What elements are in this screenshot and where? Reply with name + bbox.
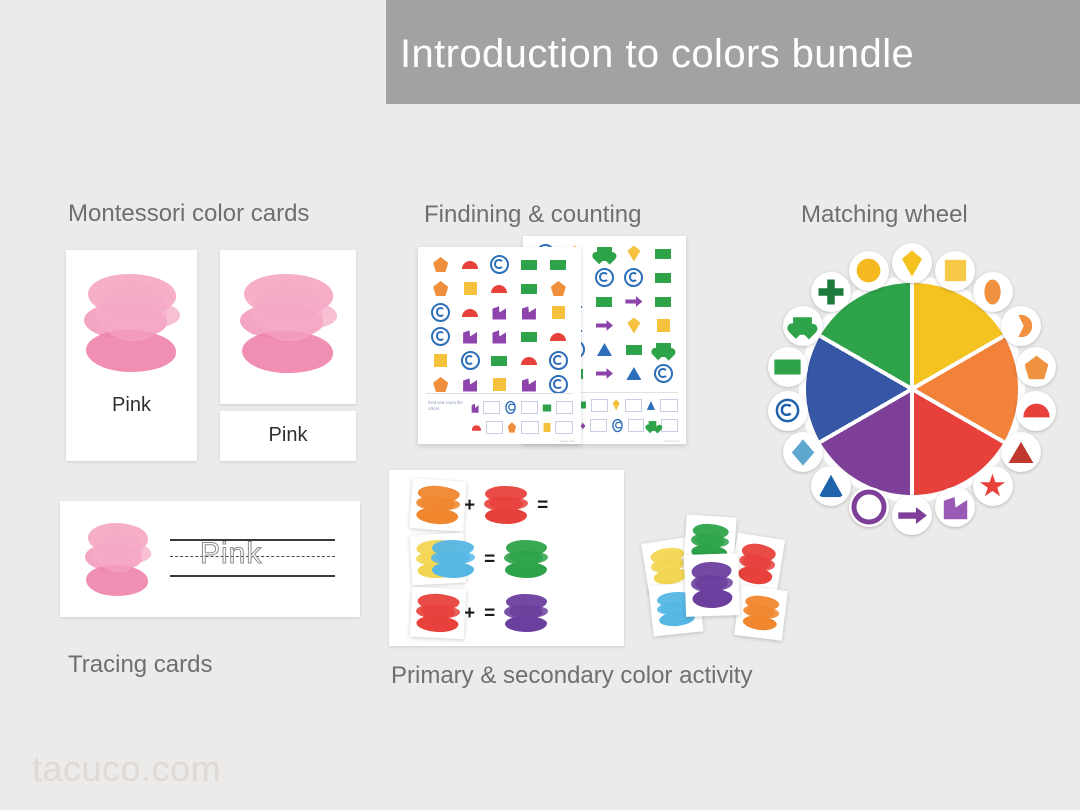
triangle-blue-icon [647, 400, 655, 409]
grid-cell [426, 375, 455, 394]
halfcircle-red-icon [462, 261, 478, 269]
heart-green-icon [649, 421, 657, 431]
rect-green-icon [655, 297, 671, 307]
square-icon [944, 260, 965, 281]
rect-green-icon [521, 332, 537, 342]
matching-wheel [766, 243, 1058, 535]
square-yellow-icon [493, 378, 506, 391]
triangle-blue-icon [626, 367, 641, 380]
spiral-blue-icon [549, 375, 568, 394]
halfcircle-red-icon [472, 425, 481, 431]
pac-purple-icon [522, 306, 536, 320]
grid-cell [455, 255, 484, 274]
count-answer-box[interactable] [483, 401, 500, 414]
spiral-blue-icon [431, 327, 450, 346]
color-mix-equation: += [411, 540, 548, 578]
rect-green-icon [543, 404, 551, 411]
rect-green-icon [521, 260, 537, 270]
grid-cell [649, 316, 678, 335]
arrow-purple-icon [596, 368, 613, 380]
plus-sign: + [464, 496, 475, 515]
grid-cell [485, 279, 514, 298]
count-answer-box[interactable] [625, 399, 643, 412]
halfcircle-red-icon [521, 357, 537, 365]
ellipse-icon [985, 280, 1001, 305]
pentagon-orange-icon [551, 281, 566, 296]
arrow-purple-icon [625, 296, 642, 308]
grid-cell [485, 375, 514, 394]
grid-cell [619, 292, 648, 311]
wheel-token-pick[interactable] [811, 466, 851, 506]
grid-cell [455, 279, 484, 298]
grid-cell [649, 268, 678, 287]
square-yellow-icon [657, 319, 670, 332]
arrow-purple-icon [596, 320, 613, 332]
color-blob-red [415, 593, 461, 633]
grid-cell [590, 364, 619, 383]
count-answer-box[interactable] [660, 399, 678, 412]
site-watermark: tacuco.com [32, 748, 221, 790]
legend-instruction: Find and count the colors [428, 400, 468, 413]
count-answer-box[interactable] [590, 419, 607, 432]
grid-cell [544, 375, 573, 394]
circle-icon [857, 259, 881, 283]
pac-purple-icon [492, 330, 506, 344]
pentagon-orange-icon [508, 422, 516, 433]
wheel-token-square[interactable] [935, 251, 975, 291]
grid-cell [455, 327, 484, 346]
counting-worksheet-a: Find and count the colors tacuco.com [418, 247, 581, 444]
grid-cell [544, 255, 573, 274]
halfcircle-red-icon [491, 285, 507, 293]
pentagon-orange-icon [433, 257, 448, 272]
legend-row [575, 416, 678, 435]
color-blob-red [484, 486, 528, 524]
kite-yellow-icon [613, 399, 620, 410]
grid-cell [619, 268, 648, 287]
legend-row [470, 420, 573, 435]
slide-canvas: Introduction to colors bundle Montessori… [0, 0, 1080, 810]
wheel-token-ring[interactable] [849, 487, 889, 527]
triangle-blue-icon [597, 343, 612, 356]
grid-cell [544, 351, 573, 370]
grid-cell [426, 303, 455, 322]
wheel-token-arrow[interactable] [892, 495, 932, 535]
spiral-blue-icon [654, 364, 673, 383]
kite-yellow-icon [627, 246, 640, 262]
grid-cell [514, 375, 543, 394]
worksheet-footer: tacuco.com [560, 439, 575, 443]
grid-cell [649, 340, 678, 359]
grid-cell [485, 351, 514, 370]
legend-answer-rows [470, 398, 573, 435]
pac-purple-icon [463, 330, 477, 344]
grid-cell [426, 255, 455, 274]
rect-green-icon [626, 345, 642, 355]
count-answer-box[interactable] [628, 419, 645, 432]
ring-icon [851, 490, 886, 525]
rect-green-icon [491, 356, 507, 366]
grid-cell [455, 303, 484, 322]
rect-green-icon [521, 284, 537, 294]
grid-cell [485, 303, 514, 322]
scattered-color-cards [645, 512, 785, 644]
grid-cell [514, 279, 543, 298]
kite-yellow-icon [627, 318, 640, 334]
square-yellow-icon [544, 423, 551, 432]
square-yellow-icon [552, 306, 565, 319]
halfcircle-red-icon [550, 333, 566, 341]
pac-purple-icon [472, 403, 479, 413]
spiral-blue-icon [549, 351, 568, 370]
montessori-card-picture [220, 250, 356, 404]
grid-cell [590, 340, 619, 359]
equals-sign: = [537, 496, 548, 515]
color-mix-equation: += [411, 486, 548, 524]
wheel-token-pentagon[interactable] [1016, 347, 1056, 387]
card-label: Pink [220, 424, 356, 447]
section-caption-primary-secondary: Primary & secondary color activity [391, 662, 752, 690]
heart-green-icon [656, 343, 671, 357]
pac-icon [943, 496, 967, 520]
cross-icon [819, 280, 844, 305]
rect-icon [775, 360, 801, 375]
spiral-blue-icon [624, 268, 643, 287]
pink-swatch [240, 272, 337, 377]
grid-cell [544, 279, 573, 298]
arrow-icon [898, 506, 927, 525]
grid-cell [426, 279, 455, 298]
wheel-token-star[interactable] [973, 466, 1013, 506]
pac-purple-icon [463, 378, 477, 392]
wheel-token-ellipse[interactable] [973, 272, 1013, 312]
grid-cell [590, 316, 619, 335]
spiral-blue-icon [461, 351, 480, 370]
card-label: Pink [66, 394, 197, 417]
wheel-token-diamond[interactable] [783, 432, 823, 472]
spiral-blue-icon [490, 255, 509, 274]
color-blob-orange [741, 594, 781, 632]
count-answer-box[interactable] [556, 401, 573, 414]
rect-green-icon [655, 249, 671, 259]
loose-color-card-orange[interactable] [409, 478, 466, 532]
grid-cell [514, 255, 543, 274]
halfcircle-icon [1023, 404, 1049, 418]
section-caption-matching: Matching wheel [801, 201, 968, 229]
grid-cell [485, 327, 514, 346]
section-caption-tracing: Tracing cards [68, 651, 213, 679]
pentagon-orange-icon [433, 377, 448, 392]
count-answer-box[interactable] [521, 401, 538, 414]
trace-word: Pink [200, 537, 262, 571]
pink-swatch [85, 521, 151, 599]
pick-icon [819, 474, 844, 497]
montessori-card-full: Pink [66, 250, 197, 461]
grid-cell [590, 292, 619, 311]
grid-cell [455, 375, 484, 394]
pac-purple-icon [492, 306, 506, 320]
color-blob-green [504, 540, 548, 578]
wheel-token-crescent[interactable] [1001, 306, 1041, 346]
grid-cell [426, 351, 455, 370]
plus-sign: + [464, 604, 475, 623]
wheel-token-triangle[interactable] [1001, 432, 1041, 472]
scatter-card-orange[interactable] [734, 585, 788, 640]
grid-cell [455, 351, 484, 370]
grid-cell [619, 244, 648, 263]
rect-green-icon [655, 273, 671, 283]
color-blob-orange [415, 485, 462, 526]
count-answer-box[interactable] [555, 421, 573, 434]
wheel-token-halfcircle[interactable] [1016, 391, 1056, 431]
color-blob-purple [690, 561, 734, 608]
grid-cell [544, 327, 573, 346]
loose-color-card-red[interactable] [410, 587, 467, 640]
pentagon-orange-icon [433, 281, 448, 296]
grid-cell [649, 364, 678, 383]
star-icon [980, 473, 1006, 498]
grid-cell [590, 244, 619, 263]
section-caption-montessori: Montessori color cards [68, 200, 309, 228]
grid-cell [590, 268, 619, 287]
heart-icon [794, 317, 813, 335]
tracing-card: Pink [60, 501, 360, 617]
wheel-token-pac[interactable] [935, 487, 975, 527]
grid-cell [514, 327, 543, 346]
shape-grid-a [426, 255, 573, 394]
color-blob-purple [504, 594, 548, 632]
color-wheel-disc [806, 283, 1018, 495]
count-answer-box[interactable] [486, 421, 504, 434]
square-yellow-icon [464, 282, 477, 295]
trace-guide-lines: Pink [170, 539, 335, 577]
rect-green-icon [596, 297, 612, 307]
halfcircle-red-icon [462, 309, 478, 317]
spiral-icon [776, 399, 800, 423]
legend-row [470, 398, 573, 417]
color-blob-blue [431, 540, 475, 578]
grid-cell [619, 340, 648, 359]
pac-purple-icon [522, 378, 536, 392]
spiral-blue-icon [506, 401, 517, 414]
grid-cell [619, 364, 648, 383]
legend-answer-rows [575, 397, 678, 435]
kite-icon [902, 250, 922, 276]
primary-secondary-sheet: +=+=+= [389, 470, 624, 646]
spiral-blue-icon [595, 268, 614, 287]
page-title: Introduction to colors bundle [400, 32, 1080, 77]
wheel-token-heart[interactable] [783, 306, 823, 346]
wheel-token-rect[interactable] [768, 347, 808, 387]
montessori-card-label: Pink [220, 411, 356, 461]
triangle-icon [1009, 441, 1034, 462]
wheel-token-circle[interactable] [849, 251, 889, 291]
wheel-token-spiral[interactable] [768, 391, 808, 431]
section-caption-finding: Findining & counting [424, 201, 641, 229]
legend-row [575, 397, 678, 413]
grid-cell [514, 303, 543, 322]
worksheet-legend-a: Find and count the colors [426, 393, 573, 438]
grid-cell [544, 303, 573, 322]
square-yellow-icon [434, 354, 447, 367]
spiral-blue-icon [431, 303, 450, 322]
spiral-blue-icon [612, 419, 622, 432]
pink-swatch [84, 272, 180, 376]
worksheet-footer: tacuco.com [665, 439, 680, 443]
wheel-token-kite[interactable] [892, 243, 932, 283]
color-mix-equation: += [411, 594, 548, 632]
count-answer-box[interactable] [591, 399, 609, 412]
equals-sign: = [484, 604, 495, 623]
diamond-icon [792, 439, 815, 465]
heart-green-icon [597, 247, 612, 261]
color-blob-red [736, 541, 778, 586]
scatter-card-purple[interactable] [684, 553, 740, 617]
grid-cell [649, 292, 678, 311]
crescent-icon [1010, 315, 1033, 338]
grid-cell [514, 351, 543, 370]
count-answer-box[interactable] [521, 421, 539, 434]
grid-cell [426, 327, 455, 346]
rect-green-icon [550, 260, 566, 270]
grid-cell [649, 244, 678, 263]
equals-sign: = [484, 550, 495, 569]
count-answer-box[interactable] [661, 419, 678, 432]
grid-cell [619, 316, 648, 335]
grid-cell [485, 255, 514, 274]
pentagon-icon [1024, 355, 1048, 379]
